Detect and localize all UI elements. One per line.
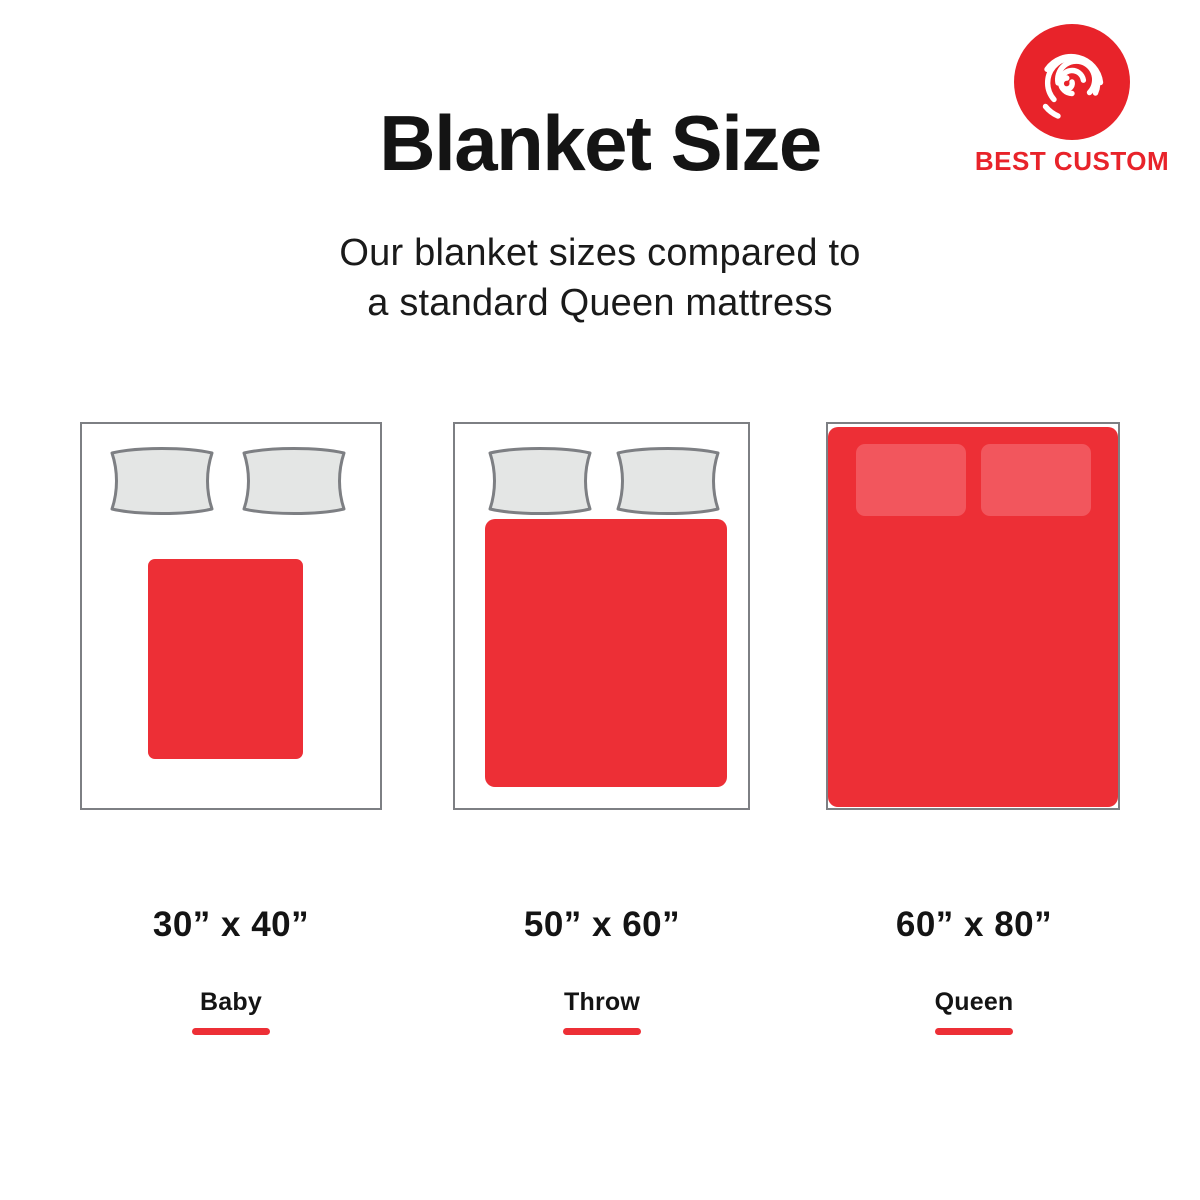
page-subtitle-line-2: a standard Queen mattress bbox=[0, 278, 1200, 328]
pillow-left-icon bbox=[104, 445, 220, 517]
caption-underline bbox=[192, 1028, 270, 1035]
pillow-left-icon bbox=[856, 444, 966, 516]
caption-dimensions: 30” x 40” bbox=[81, 905, 381, 945]
mattress-outline bbox=[80, 422, 382, 810]
page-title: Blanket Size bbox=[0, 104, 1200, 184]
pillow-right-icon bbox=[610, 445, 726, 517]
pillow-right-icon bbox=[236, 445, 352, 517]
caption-size-name: Queen bbox=[824, 988, 1124, 1017]
bed-diagram-queen bbox=[826, 422, 1120, 810]
bed-comparison-row bbox=[0, 422, 1200, 822]
caption-baby: 30” x 40” Baby bbox=[81, 905, 381, 1035]
caption-throw: 50” x 60” Throw bbox=[452, 905, 752, 1035]
page-subtitle: Our blanket sizes compared to a standard… bbox=[0, 228, 1200, 328]
blanket-swatch-throw bbox=[485, 519, 727, 787]
caption-underline bbox=[563, 1028, 641, 1035]
caption-underline bbox=[935, 1028, 1013, 1035]
page-subtitle-line-1: Our blanket sizes compared to bbox=[0, 228, 1200, 278]
pillow-right-icon bbox=[981, 444, 1091, 516]
bed-diagram-throw bbox=[453, 422, 750, 810]
caption-size-name: Baby bbox=[81, 988, 381, 1017]
caption-dimensions: 60” x 80” bbox=[824, 905, 1124, 945]
mattress-outline bbox=[453, 422, 750, 810]
bed-diagram-baby bbox=[80, 422, 382, 810]
caption-size-name: Throw bbox=[452, 988, 752, 1017]
pillow-left-icon bbox=[482, 445, 598, 517]
mattress-outline bbox=[826, 422, 1120, 810]
blanket-swatch-baby bbox=[148, 559, 303, 759]
blanket-swatch-queen bbox=[828, 427, 1118, 807]
caption-dimensions: 50” x 60” bbox=[452, 905, 752, 945]
caption-queen: 60” x 80” Queen bbox=[824, 905, 1124, 1035]
